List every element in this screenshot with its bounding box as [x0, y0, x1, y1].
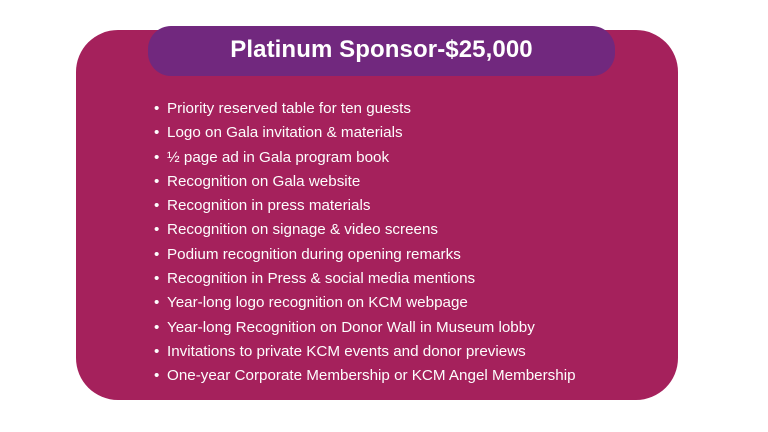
list-item: • Recognition on Gala website — [152, 170, 662, 194]
list-item: • Priority reserved table for ten guests — [152, 97, 662, 121]
list-item-label: Logo on Gala invitation & materials — [167, 124, 403, 141]
bullet-icon: • — [154, 218, 159, 242]
list-item-label: Podium recognition during opening remark… — [167, 246, 461, 263]
bullet-icon: • — [154, 194, 159, 218]
list-item-label: Invitations to private KCM events and do… — [167, 343, 526, 360]
bullet-icon: • — [154, 267, 159, 291]
bullet-icon: • — [154, 243, 159, 267]
list-item-label: Year-long logo recognition on KCM webpag… — [167, 294, 468, 311]
list-item-label: One-year Corporate Membership or KCM Ang… — [167, 367, 576, 384]
list-item: • Podium recognition during opening rema… — [152, 243, 662, 267]
slide-canvas: Platinum Sponsor-$25,000 • Priority rese… — [0, 0, 768, 432]
list-item-label: Recognition on signage & video screens — [167, 221, 438, 238]
bullet-icon: • — [154, 364, 159, 388]
list-item: • Invitations to private KCM events and … — [152, 340, 662, 364]
list-item: • Recognition in press materials — [152, 194, 662, 218]
list-item: • Logo on Gala invitation & materials — [152, 121, 662, 145]
list-item-label: ½ page ad in Gala program book — [167, 149, 389, 166]
list-item-label: Year-long Recognition on Donor Wall in M… — [167, 319, 535, 336]
list-item-label: Recognition in press materials — [167, 197, 370, 214]
bullet-icon: • — [154, 146, 159, 170]
bullet-icon: • — [154, 316, 159, 340]
list-item-label: Priority reserved table for ten guests — [167, 100, 411, 117]
bullet-icon: • — [154, 340, 159, 364]
list-item: • Recognition on signage & video screens — [152, 218, 662, 242]
sponsor-tier-title: Platinum Sponsor-$25,000 — [230, 38, 533, 62]
sponsor-tier-header-pill: Platinum Sponsor-$25,000 — [148, 26, 615, 76]
list-item: • ½ page ad in Gala program book — [152, 146, 662, 170]
bullet-icon: • — [154, 291, 159, 315]
list-item: • Year-long logo recognition on KCM webp… — [152, 291, 662, 315]
list-item: • Recognition in Press & social media me… — [152, 267, 662, 291]
bullet-icon: • — [154, 121, 159, 145]
bullet-icon: • — [154, 97, 159, 121]
list-item-label: Recognition on Gala website — [167, 173, 360, 190]
bullet-icon: • — [154, 170, 159, 194]
list-item: • One-year Corporate Membership or KCM A… — [152, 364, 662, 388]
list-item: • Year-long Recognition on Donor Wall in… — [152, 316, 662, 340]
sponsor-benefits-list: • Priority reserved table for ten guests… — [152, 97, 662, 389]
list-item-label: Recognition in Press & social media ment… — [167, 270, 475, 287]
